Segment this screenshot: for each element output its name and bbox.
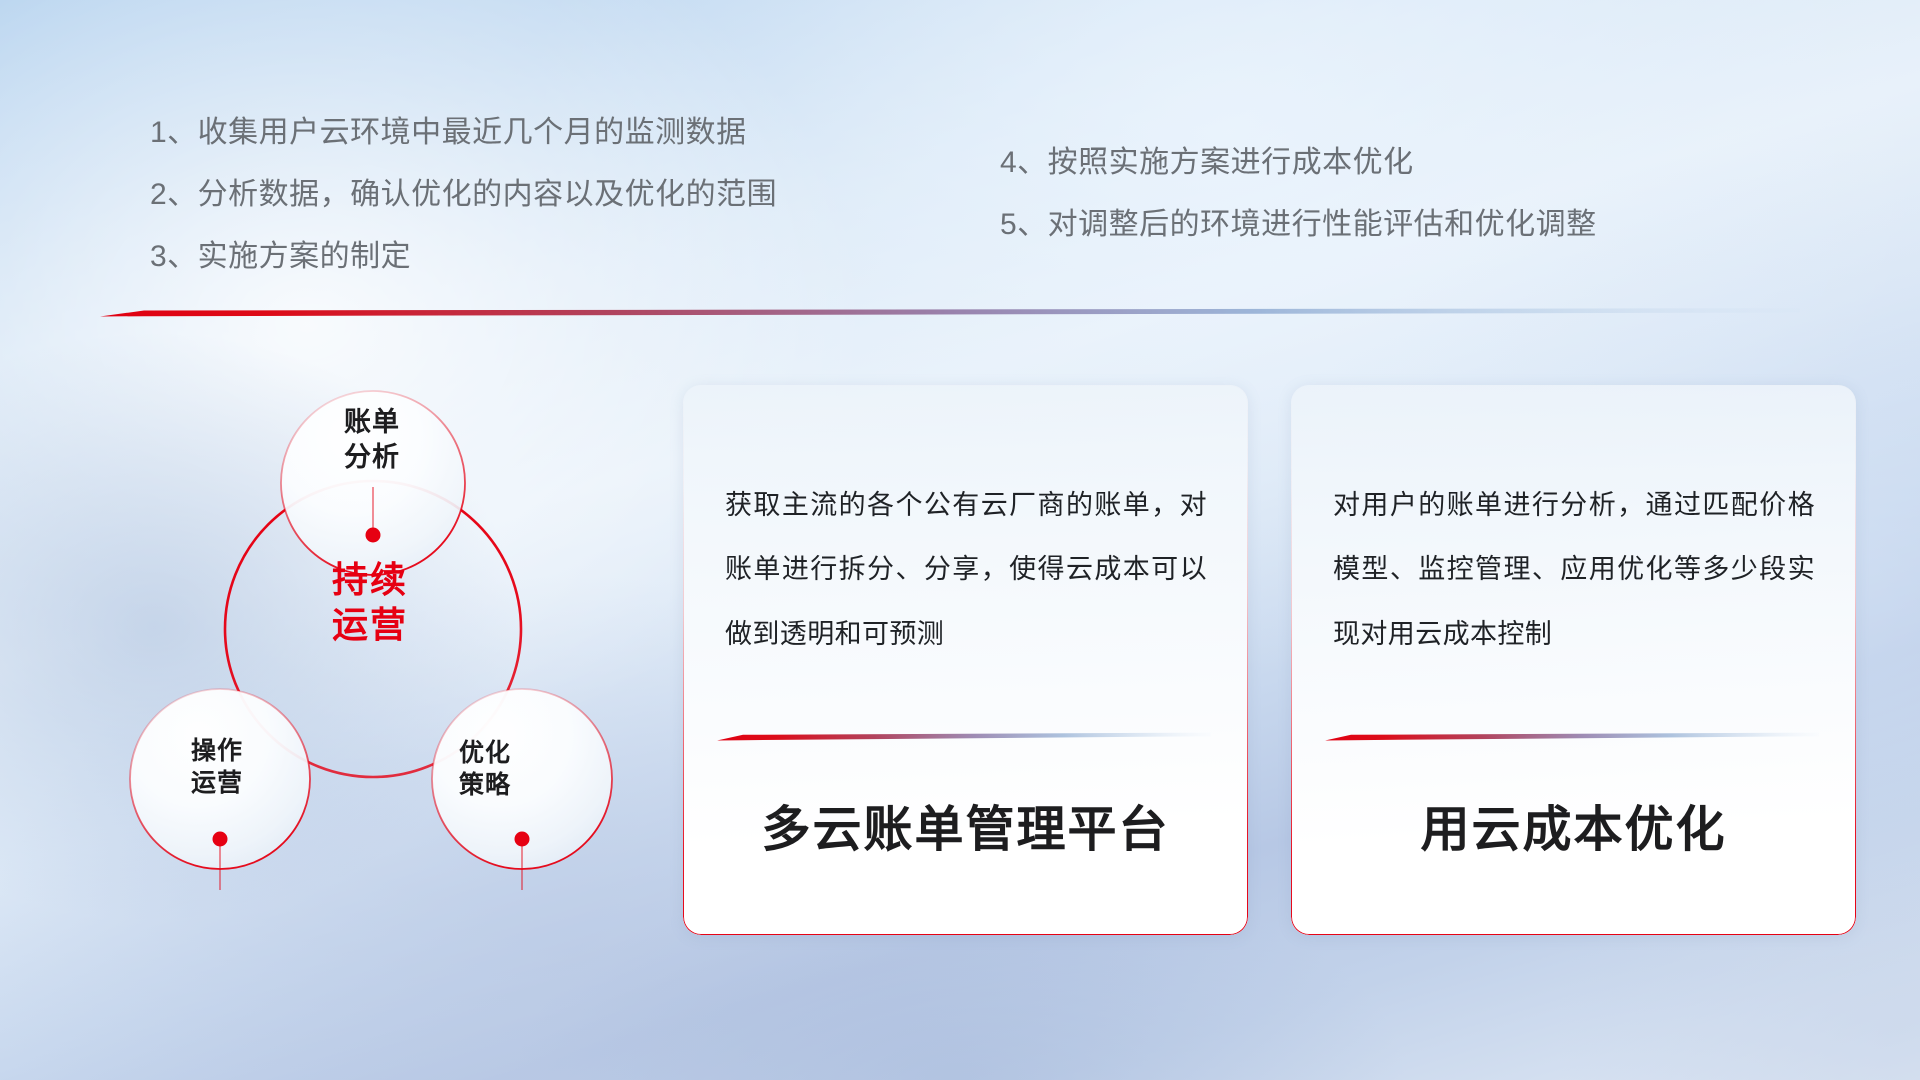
continuous-operation-diagram: 账单 分析 操作 运营 优化 策略 持续 运营 [90,345,650,935]
card-divider [717,730,1211,744]
card-description: 对用户的账单进行分析，通过匹配价格模型、监控管理、应用优化等多少段实现对用云成本… [1333,473,1815,666]
card-divider-taper [1325,733,1819,741]
connector-dot-right [515,832,530,847]
step-item-3: 3、实施方案的制定 [150,242,777,272]
card-divider-taper [717,733,1211,741]
steps-right-column: 4、按照实施方案进行成本优化 5、对调整后的环境进行性能评估和优化调整 [1000,148,1597,240]
connector-dot-top [366,528,381,543]
step-item-2: 2、分析数据，确认优化的内容以及优化的范围 [150,180,777,210]
card-title: 多云账单管理平台 [683,790,1248,861]
steps-left-column: 1、收集用户云环境中最近几个月的监测数据 2、分析数据，确认优化的内容以及优化的… [150,118,777,272]
card-divider-shape [1325,730,1819,744]
step-item-1: 1、收集用户云环境中最近几个月的监测数据 [150,118,777,148]
card-body: 对用户的账单进行分析，通过匹配价格模型、监控管理、应用优化等多少段实现对用云成本… [1333,473,1815,666]
venn-label-optimize-policy: 优化 策略 [400,737,570,801]
venn-label-center: 持续 运营 [265,557,475,647]
card-description: 获取主流的各个公有云厂商的账单，对账单进行拆分、分享，使得云成本可以做到透明和可… [725,473,1207,666]
card-body: 获取主流的各个公有云厂商的账单，对账单进行拆分、分享，使得云成本可以做到透明和可… [725,473,1207,666]
card-divider-shape [717,730,1211,744]
connector-dot-left [213,832,228,847]
card-divider [1325,730,1819,744]
card-title: 用云成本优化 [1291,790,1856,861]
step-item-4: 4、按照实施方案进行成本优化 [1000,148,1597,178]
step-item-5: 5、对调整后的环境进行性能评估和优化调整 [1000,210,1597,240]
venn-label-bill-analysis: 账单 分析 [282,405,462,474]
venn-label-operation: 操作 运营 [132,735,302,799]
card-multi-cloud-billing[interactable]: 获取主流的各个公有云厂商的账单，对账单进行拆分、分享，使得云成本可以做到透明和可… [683,385,1248,935]
card-cloud-cost-optimization[interactable]: 对用户的账单进行分析，通过匹配价格模型、监控管理、应用优化等多少段实现对用云成本… [1291,385,1856,935]
